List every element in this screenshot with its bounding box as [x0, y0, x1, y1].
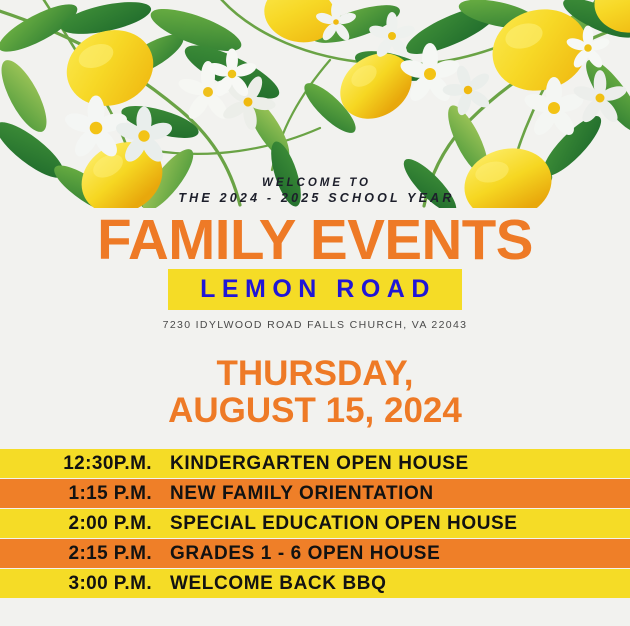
schedule-row: 3:00 P.M. WELCOME BACK BBQ — [0, 569, 630, 598]
schedule-row: 2:00 P.M. SPECIAL EDUCATION OPEN HOUSE — [0, 509, 630, 538]
welcome-eyebrow-line1: WELCOME TO — [0, 176, 630, 190]
page-title: FAMILY EVENTS — [3, 212, 627, 268]
school-identity-block: LEMON ROAD 7230 IDYLWOOD ROAD FALLS CHUR… — [0, 269, 630, 331]
header-block: WELCOME TO THE 2024 - 2025 SCHOOL YEAR F… — [0, 176, 630, 268]
schedule-event: SPECIAL EDUCATION OPEN HOUSE — [170, 513, 518, 535]
school-name: LEMON ROAD — [194, 277, 436, 301]
schedule-time: 12:30P.M. — [0, 453, 152, 475]
schedule-list: 12:30P.M. KINDERGARTEN OPEN HOUSE 1:15 P… — [0, 449, 630, 599]
schedule-time: 1:15 P.M. — [0, 483, 152, 505]
event-date-line1: THURSDAY, — [0, 355, 630, 392]
welcome-eyebrow-line2: THE 2024 - 2025 SCHOOL YEAR — [0, 190, 630, 206]
schedule-time: 2:15 P.M. — [0, 543, 152, 565]
schedule-row: 2:15 P.M. GRADES 1 - 6 OPEN HOUSE — [0, 539, 630, 568]
schedule-event: WELCOME BACK BBQ — [170, 573, 386, 595]
school-name-highlight-band: LEMON ROAD — [168, 269, 462, 310]
event-date-block: THURSDAY, AUGUST 15, 2024 — [0, 355, 630, 429]
schedule-event: NEW FAMILY ORIENTATION — [170, 483, 434, 505]
schedule-event: KINDERGARTEN OPEN HOUSE — [170, 453, 469, 475]
poster-canvas: WELCOME TO THE 2024 - 2025 SCHOOL YEAR F… — [0, 0, 630, 626]
event-date-line2: AUGUST 15, 2024 — [0, 392, 630, 429]
school-address: 7230 IDYLWOOD ROAD FALLS CHURCH, VA 2204… — [0, 319, 630, 331]
schedule-row: 1:15 P.M. NEW FAMILY ORIENTATION — [0, 479, 630, 508]
schedule-time: 3:00 P.M. — [0, 573, 152, 595]
schedule-row: 12:30P.M. KINDERGARTEN OPEN HOUSE — [0, 449, 630, 478]
schedule-event: GRADES 1 - 6 OPEN HOUSE — [170, 543, 440, 565]
schedule-time: 2:00 P.M. — [0, 513, 152, 535]
